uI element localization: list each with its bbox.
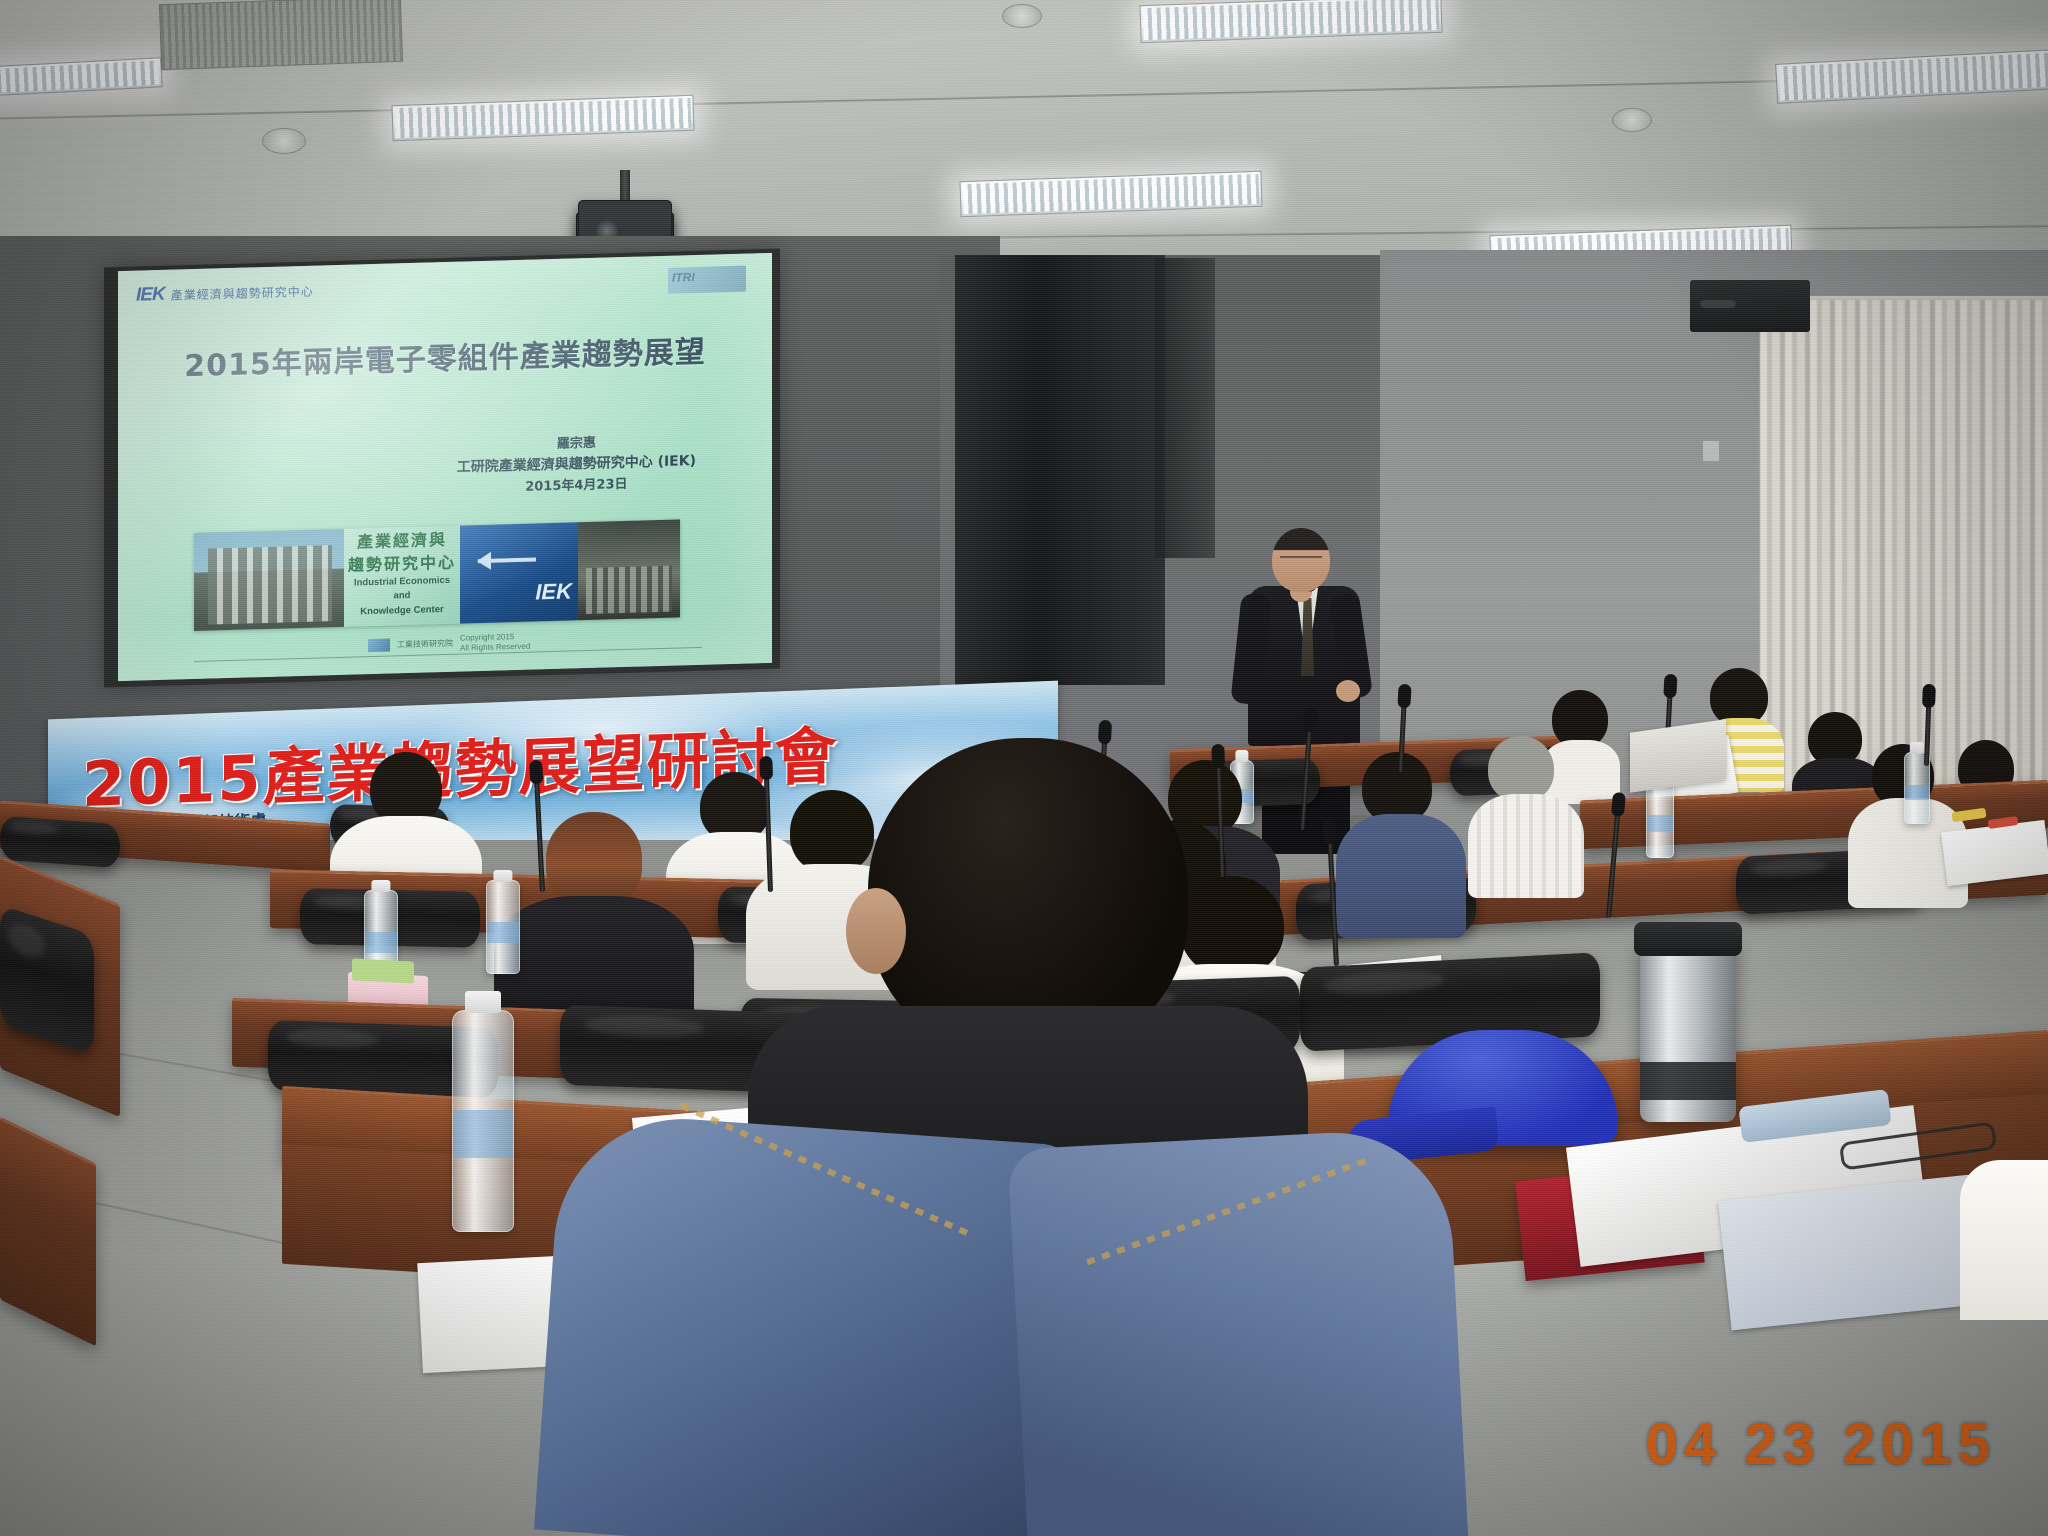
chair bbox=[0, 816, 120, 868]
person-head bbox=[370, 752, 442, 826]
strip-iek-badge: IEK bbox=[535, 578, 572, 605]
travel-mug-grip bbox=[1640, 1062, 1736, 1100]
window-sheer-curtain bbox=[1760, 300, 2048, 800]
wall-speaker bbox=[1690, 280, 1810, 332]
slide-footer-org: 工業技術研究院 bbox=[397, 638, 453, 651]
person-torso bbox=[1960, 1160, 2048, 1320]
water-bottle-foreground[interactable] bbox=[452, 1010, 514, 1232]
strip-cn-line1: 產業經濟與 bbox=[344, 532, 460, 552]
speaker-hand bbox=[1336, 680, 1360, 702]
strip-en-line1: Industrial Economics bbox=[344, 574, 460, 589]
downlight-icon bbox=[1002, 4, 1042, 28]
strip-cn-line2: 趨勢研究中心 bbox=[344, 554, 460, 574]
wall-switch-plate[interactable] bbox=[1702, 440, 1720, 462]
strip-iek-arrow-graphic: IEK bbox=[460, 522, 578, 623]
speaker-glasses bbox=[1280, 556, 1322, 567]
denim-vest-right bbox=[1007, 1127, 1468, 1536]
camera-date-stamp: 04 23 2015 bbox=[1646, 1411, 1996, 1478]
person-head bbox=[1180, 876, 1284, 976]
strip-building-photo bbox=[194, 529, 344, 631]
water-bottle[interactable] bbox=[1646, 780, 1674, 858]
iek-logo-text: 產業經濟與趨勢研究中心 bbox=[171, 282, 314, 303]
slide-presenter-block: 羅宗惠 工研院產業經濟與趨勢研究中心 (IEK) 2015年4月23日 bbox=[457, 431, 696, 500]
slide-footer-rights: All Rights Reserved bbox=[460, 641, 530, 652]
green-package[interactable] bbox=[352, 958, 414, 983]
itri-logo: ITRI bbox=[668, 266, 746, 294]
denim-vest-left bbox=[534, 1110, 1082, 1536]
itri-footer-mark bbox=[368, 639, 390, 653]
strip-en-line3: Knowledge Center bbox=[344, 604, 460, 619]
left-arrow-icon bbox=[478, 557, 536, 563]
strip-campus-photo bbox=[578, 519, 680, 620]
stage-curtain-dark bbox=[1155, 258, 1215, 558]
downlight-icon bbox=[262, 128, 306, 154]
projected-slide: IEK 產業經濟與趨勢研究中心 ITRI 2015年兩岸電子零組件產業趨勢展望 … bbox=[118, 253, 772, 681]
person-head bbox=[790, 790, 874, 874]
strip-en-line2: and bbox=[344, 589, 460, 604]
stage-curtain-dark bbox=[955, 255, 1165, 685]
person-head-grey-hair bbox=[1488, 736, 1554, 802]
person-head-brown-hair bbox=[546, 812, 642, 908]
person-torso bbox=[1336, 814, 1466, 938]
downlight-icon bbox=[1612, 108, 1652, 132]
slide-image-strip: 產業經濟與 趨勢研究中心 Industrial Economics and Kn… bbox=[194, 519, 680, 631]
travel-mug-lid[interactable] bbox=[1634, 922, 1742, 956]
iek-logo-mark: IEK bbox=[136, 284, 165, 307]
slide-title: 2015年兩岸電子零組件產業趨勢展望 bbox=[118, 325, 772, 387]
itri-logo-text: ITRI bbox=[672, 270, 695, 285]
water-bottle[interactable] bbox=[486, 880, 520, 974]
air-vent bbox=[159, 0, 403, 70]
conference-photo: IEK 產業經濟與趨勢研究中心 ITRI 2015年兩岸電子零組件產業趨勢展望 … bbox=[0, 0, 2048, 1536]
person-torso bbox=[1468, 794, 1584, 898]
slide-logo: IEK 產業經濟與趨勢研究中心 bbox=[136, 280, 314, 307]
person-ear bbox=[846, 888, 906, 974]
strip-center-text: 產業經濟與 趨勢研究中心 Industrial Economics and Kn… bbox=[344, 526, 460, 627]
